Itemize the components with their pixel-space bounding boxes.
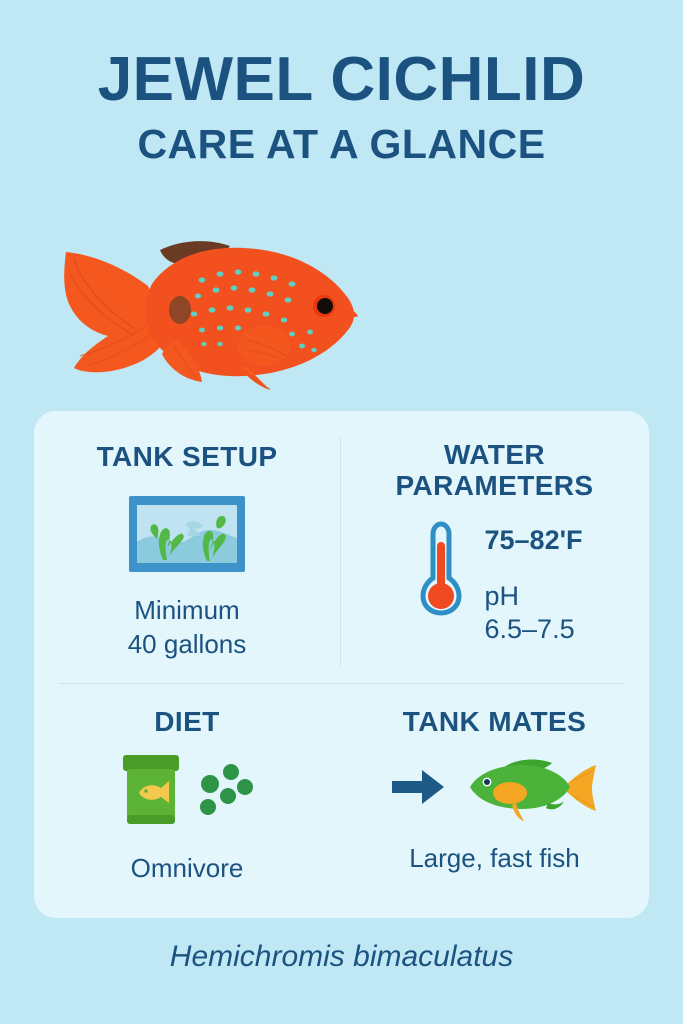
scientific-name: Hemichromis bimaculatus <box>0 940 683 974</box>
water-parameters-heading-line1: WATER <box>340 439 649 470</box>
tank-setup-heading: TANK SETUP <box>34 425 340 472</box>
temperature-value: 75–82'F <box>485 526 583 556</box>
section-diet: DIET Omnivor <box>34 690 340 918</box>
infographic-page: JEWEL CICHLID CARE AT A GLANCE <box>0 0 683 1024</box>
diet-body <box>34 753 340 836</box>
page-subtitle: CARE AT A GLANCE <box>0 123 683 166</box>
footer: Hemichromis bimaculatus <box>0 940 683 974</box>
water-parameters-heading-line2: PARAMETERS <box>340 470 649 501</box>
header: JEWEL CICHLID CARE AT A GLANCE <box>0 48 683 166</box>
water-parameters-body: 75–82'F pH 6.5–7.5 <box>340 520 649 646</box>
tank-setup-value-line1: Minimum <box>34 594 340 628</box>
ph-value: 6.5–7.5 <box>485 614 583 645</box>
tank-setup-value: Minimum 40 gallons <box>34 594 340 662</box>
thermometer-icon <box>415 520 467 621</box>
green-fish-icon <box>460 751 600 828</box>
aquarium-icon <box>34 494 340 574</box>
section-tank-mates: TANK MATES <box>340 690 649 918</box>
tank-mates-body <box>340 751 649 828</box>
section-tank-setup: TANK SETUP Minimum 40 gallons <box>34 425 340 683</box>
water-parameters-heading: WATER PARAMETERS <box>340 425 649 502</box>
jewel-cichlid-fish-icon <box>52 228 372 403</box>
diet-heading: DIET <box>34 690 340 737</box>
tank-mates-heading: TANK MATES <box>340 690 649 737</box>
ph-label: pH <box>485 581 583 612</box>
arrow-right-icon <box>390 767 446 812</box>
diet-value: Omnivore <box>34 852 340 886</box>
fish-food-container-icon <box>117 753 187 836</box>
page-title: JEWEL CICHLID <box>0 48 683 111</box>
card-horizontal-divider <box>58 683 625 684</box>
section-water-parameters: WATER PARAMETERS 75–82'F pH 6.5–7.5 <box>340 425 649 683</box>
tank-setup-value-line2: 40 gallons <box>34 628 340 662</box>
water-readings: 75–82'F pH 6.5–7.5 <box>485 520 583 646</box>
tank-mates-value: Large, fast fish <box>340 842 649 876</box>
fish-food-pellets-icon <box>197 760 257 829</box>
